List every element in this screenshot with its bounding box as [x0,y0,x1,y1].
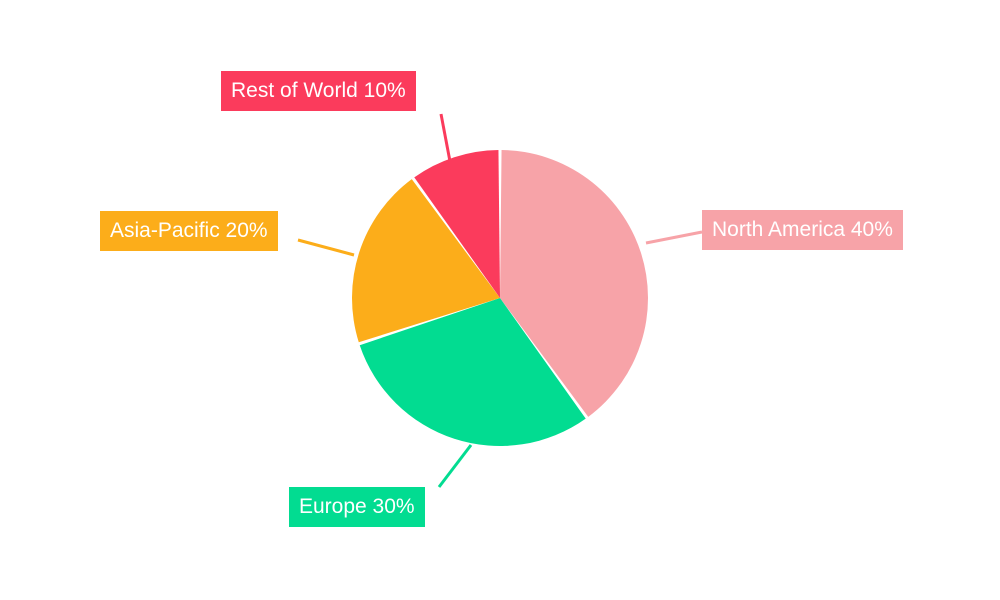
pie-chart-canvas [0,0,1000,600]
pie-slices-group [352,150,648,446]
slice-label-europe-text: Europe 30% [299,495,415,518]
leader-line-europe [439,445,471,487]
slice-label-north-america-text: North America 40% [712,218,893,241]
slice-label-north-america[interactable]: North America 40% [702,210,903,250]
slice-label-rest-of-world-text: Rest of World 10% [231,79,406,102]
slice-label-asia-pacific-text: Asia-Pacific 20% [110,219,268,242]
slice-label-asia-pacific[interactable]: Asia-Pacific 20% [100,211,278,251]
leader-line-north-america [646,232,702,243]
pie-chart: North America 40% Europe 30% Asia-Pacifi… [0,0,1000,600]
leader-line-asia-pacific [298,240,354,255]
slice-label-europe[interactable]: Europe 30% [289,487,425,527]
slice-label-rest-of-world[interactable]: Rest of World 10% [221,71,416,111]
